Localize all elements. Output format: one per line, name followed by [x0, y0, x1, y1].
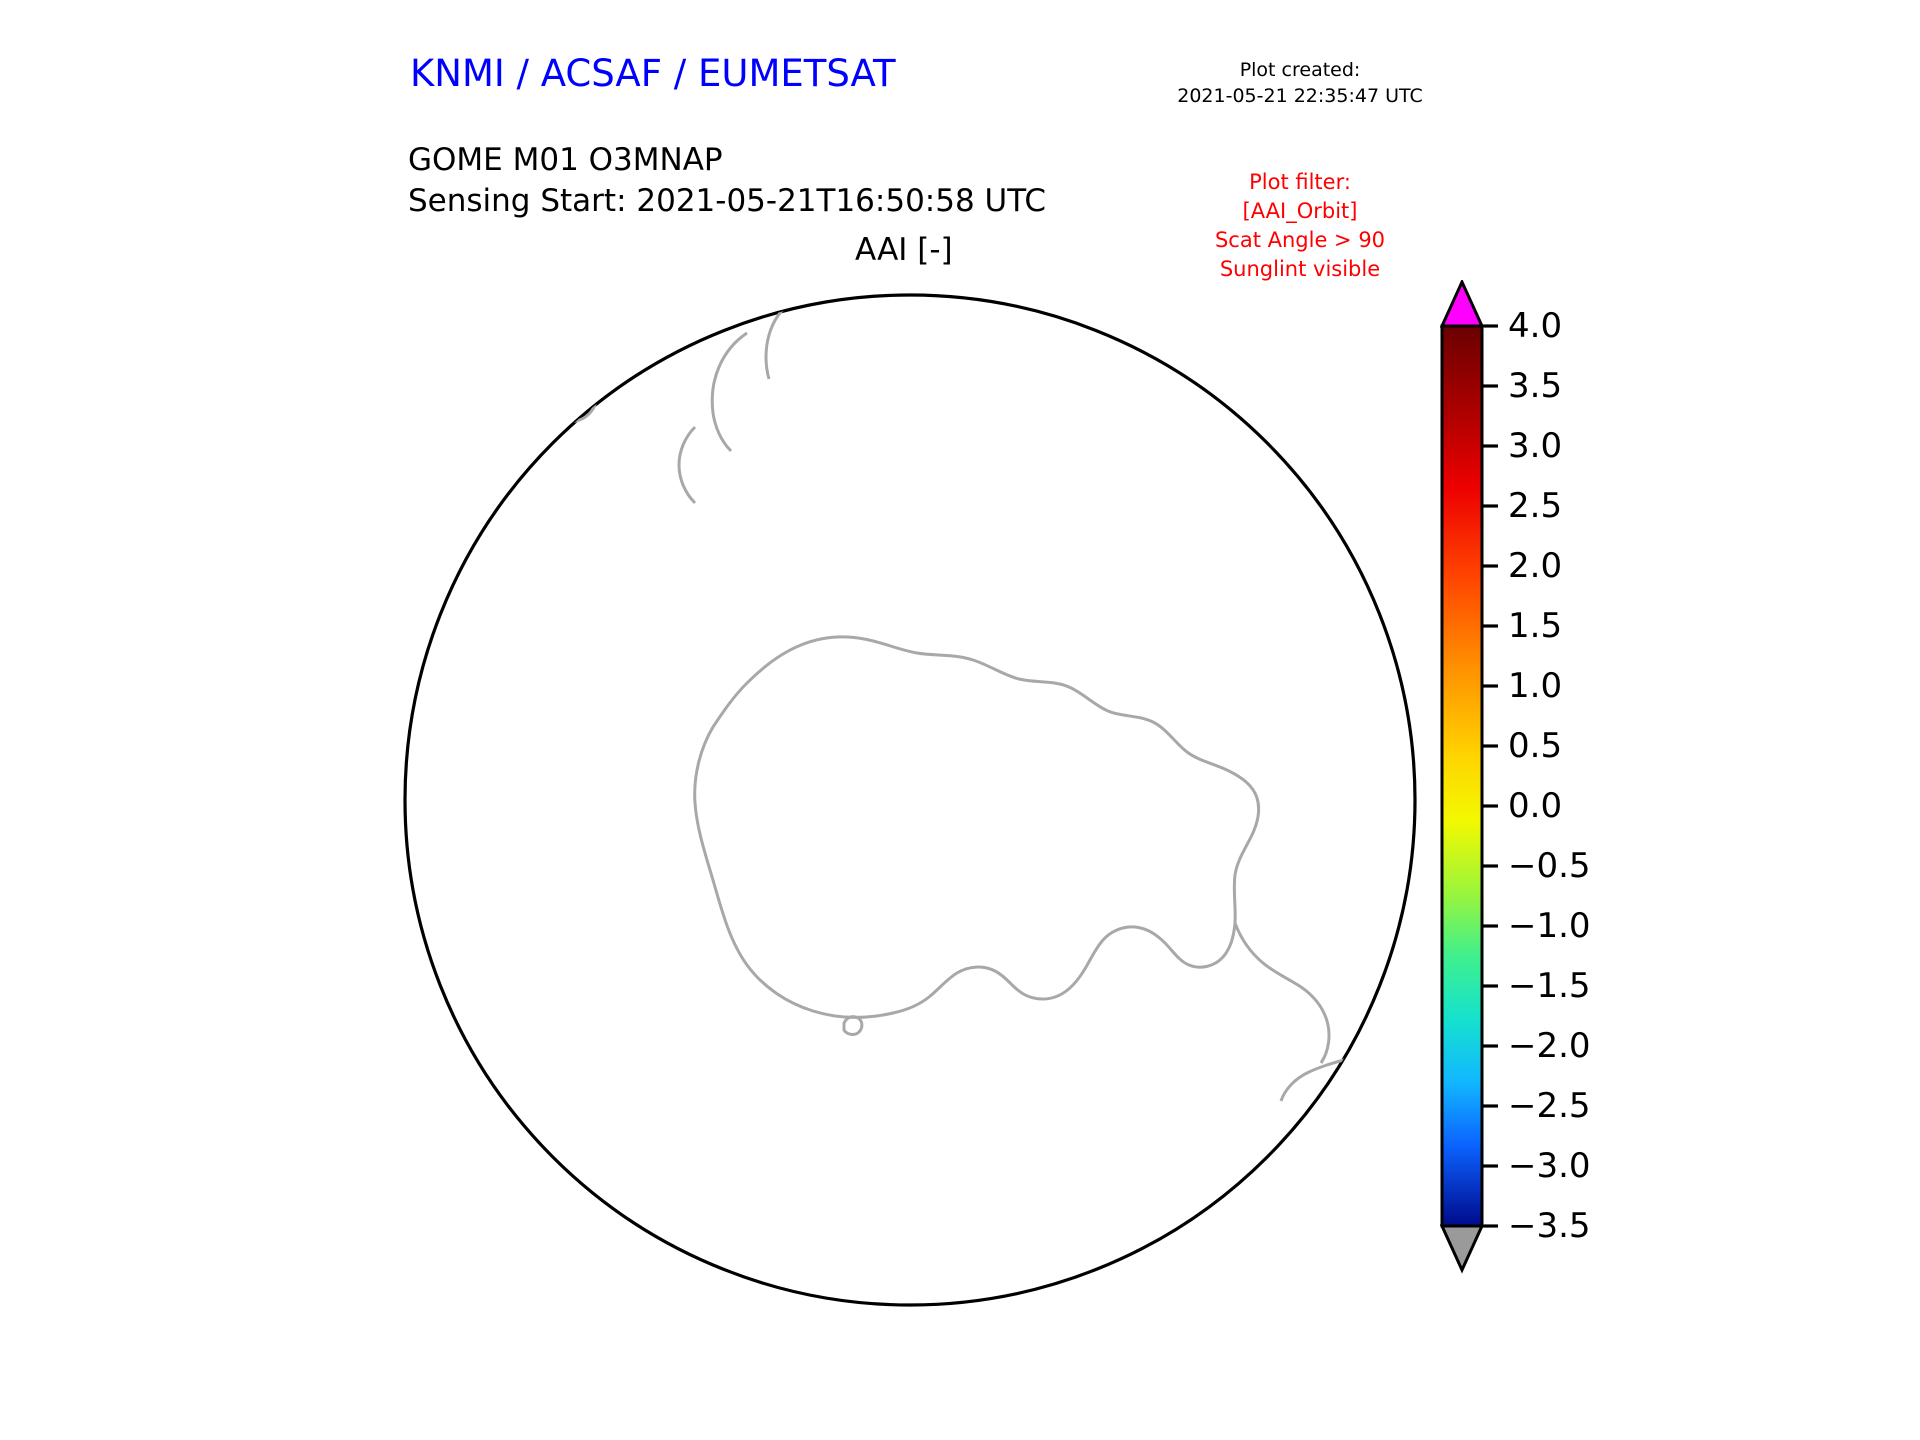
polar-horizon-circle: [405, 295, 1415, 1305]
colorbar-label-1: 3.5: [1508, 366, 1562, 406]
colorbar: 4.0 3.5 3.0 2.5 2.0 1.5 1.0 0.5 0.0 −0.5…: [1440, 280, 1500, 1290]
sensing-start-line: Sensing Start: 2021-05-21T16:50:58 UTC: [408, 181, 1046, 222]
colorbar-label-8: 0.0: [1508, 786, 1562, 826]
filter-line-1: Plot filter:: [1160, 168, 1440, 197]
colorbar-label-5: 1.5: [1508, 606, 1562, 646]
filter-line-3: Scat Angle > 90: [1160, 226, 1440, 255]
colorbar-label-6: 1.0: [1508, 666, 1562, 706]
filter-line-2: [AAI_Orbit]: [1160, 197, 1440, 226]
colorbar-label-0: 4.0: [1508, 306, 1562, 346]
colorbar-ticks: [1482, 326, 1498, 1226]
plot-page: KNMI / ACSAF / EUMETSAT Plot created: 20…: [0, 0, 1920, 1440]
polar-map: [395, 275, 1425, 1320]
plot-created-block: Plot created: 2021-05-21 22:35:47 UTC: [1160, 58, 1440, 109]
colorbar-label-2: 3.0: [1508, 426, 1562, 466]
colorbar-label-9: −0.5: [1508, 846, 1591, 886]
colorbar-label-13: −2.5: [1508, 1086, 1591, 1126]
colorbar-label-15: −3.5: [1508, 1206, 1591, 1246]
colorbar-label-7: 0.5: [1508, 726, 1562, 766]
colorbar-label-11: −1.5: [1508, 966, 1591, 1006]
plot-created-timestamp: 2021-05-21 22:35:47 UTC: [1160, 84, 1440, 110]
colorbar-under-arrow: [1442, 1226, 1482, 1270]
colorbar-label-14: −3.0: [1508, 1146, 1591, 1186]
colorbar-label-4: 2.0: [1508, 546, 1562, 586]
map-canvas: [395, 275, 1425, 1320]
product-info-block: GOME M01 O3MNAP Sensing Start: 2021-05-2…: [408, 140, 1046, 222]
plot-created-label: Plot created:: [1160, 58, 1440, 84]
colorbar-over-arrow: [1442, 282, 1482, 326]
colorbar-gradient: [1442, 326, 1482, 1226]
plot-filter-block: Plot filter: [AAI_Orbit] Scat Angle > 90…: [1160, 168, 1440, 284]
colorbar-canvas: [1440, 280, 1500, 1290]
colorbar-label-10: −1.0: [1508, 906, 1591, 946]
colorbar-label-12: −2.0: [1508, 1026, 1591, 1066]
organization-title: KNMI / ACSAF / EUMETSAT: [410, 52, 896, 95]
colorbar-label-3: 2.5: [1508, 486, 1562, 526]
instrument-line: GOME M01 O3MNAP: [408, 140, 1046, 181]
quantity-title: AAI [-]: [855, 232, 953, 268]
